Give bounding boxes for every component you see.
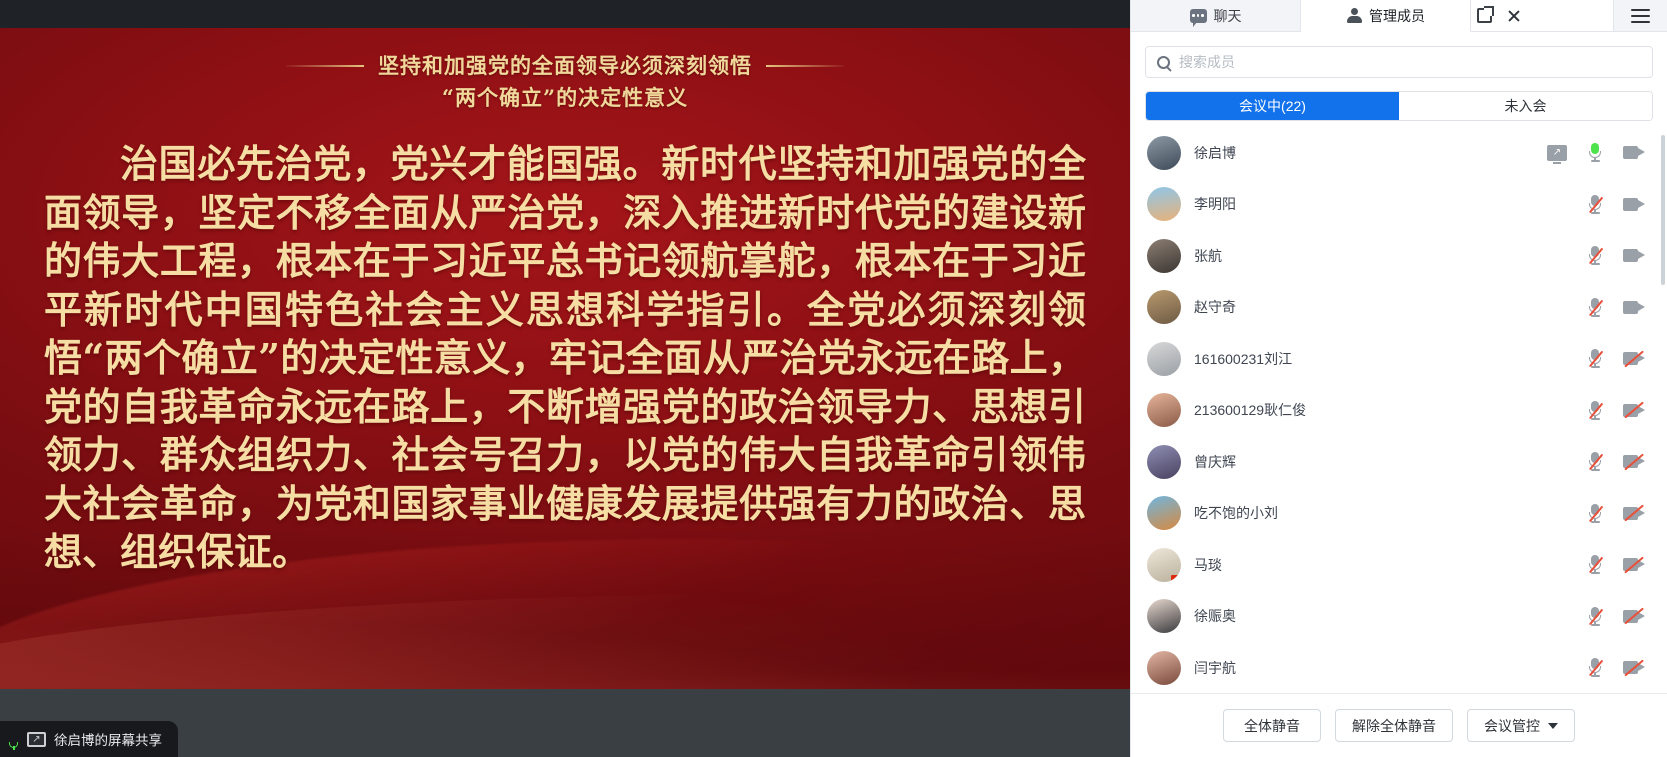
participant-name: 徐启博 [1194,143,1236,163]
participant-status-icons [1547,143,1645,162]
participant-name: 李明阳 [1194,194,1236,214]
slide-title-line-1: 坚持和加强党的全面领导必须深刻领悟 [378,50,752,82]
avatar [1147,290,1181,324]
camera-off-icon[interactable] [1623,454,1645,469]
participant-row[interactable]: 赵守奇 [1131,282,1667,334]
participant-status-icons [1588,607,1645,626]
chevron-down-icon [1548,723,1558,729]
popout-icon[interactable] [1477,8,1492,23]
slide-title-line-2: “两个确立”的决定性意义 [0,82,1130,114]
camera-on-icon[interactable] [1623,197,1645,212]
camera-off-icon[interactable] [1623,660,1645,675]
mute-all-label: 全体静音 [1244,716,1300,736]
presentation-slide: 坚持和加强党的全面领导必须深刻领悟 “两个确立”的决定性意义 治国必先治党，党兴… [0,28,1130,689]
avatar [1147,393,1181,427]
chat-bubble-icon [1190,9,1207,23]
microphone-active-icon [8,731,19,748]
panel-tab-bar: 聊天 管理成员 [1131,0,1667,32]
screen-share-icon[interactable] [1547,145,1567,161]
search-icon [1157,56,1170,69]
participant-row[interactable]: 马琰 [1131,539,1667,591]
unmute-all-label: 解除全体静音 [1352,716,1436,736]
meeting-control-label: 会议管控 [1484,716,1540,736]
participant-name: 张航 [1194,246,1222,266]
slide-title: 坚持和加强党的全面领导必须深刻领悟 “两个确立”的决定性意义 [0,50,1130,114]
title-rule-right [766,65,844,67]
meeting-control-button[interactable]: 会议管控 [1467,709,1575,742]
participant-name: 曾庆辉 [1194,452,1236,472]
microphone-muted-icon[interactable] [1588,555,1602,574]
camera-off-icon[interactable] [1623,557,1645,572]
filter-in-meeting[interactable]: 会议中(22) [1146,92,1399,120]
microphone-muted-icon[interactable] [1588,658,1602,677]
shared-screen-stage: 坚持和加强党的全面领导必须深刻领悟 “两个确立”的决定性意义 治国必先治党，党兴… [0,0,1130,757]
avatar [1147,239,1181,273]
participant-name: 马琰 [1194,555,1222,575]
tab-chat[interactable]: 聊天 [1131,0,1301,31]
panel-window-controls [1471,0,1613,31]
participant-name: 赵守奇 [1194,297,1236,317]
camera-on-icon[interactable] [1623,145,1645,160]
microphone-active-icon[interactable] [1588,143,1602,162]
microphone-muted-icon[interactable] [1588,195,1602,214]
participant-name: 闫宇航 [1194,658,1236,678]
camera-off-icon[interactable] [1623,609,1645,624]
person-icon [1346,8,1362,23]
avatar [1147,187,1181,221]
search-section [1131,32,1667,78]
camera-off-icon[interactable] [1623,506,1645,521]
avatar [1147,599,1181,633]
participant-name: 161600231刘江 [1194,349,1292,369]
participant-status-icons [1588,349,1645,368]
stage-taskbar: 徐启博的屏幕共享 [0,689,1130,757]
microphone-muted-icon[interactable] [1588,452,1602,471]
participant-status-icons [1588,401,1645,420]
screen-share-status: 徐启博的屏幕共享 [0,721,178,757]
participant-row[interactable]: 吃不饱的小刘 [1131,488,1667,540]
tab-manage-members-label: 管理成员 [1369,6,1425,26]
participant-status-icons [1588,555,1645,574]
participant-status-icons [1588,298,1645,317]
participant-filter-tabs: 会议中(22) 未入会 [1145,91,1653,121]
participant-status-icons [1588,504,1645,523]
participant-status-icons [1588,246,1645,265]
microphone-muted-icon[interactable] [1588,298,1602,317]
microphone-muted-icon[interactable] [1588,349,1602,368]
participant-row[interactable]: 李明阳 [1131,179,1667,231]
slide-body-text: 治国必先治党，党兴才能国强。新时代坚持和加强党的全面领导，坚定不移全面从严治党，… [44,140,1086,577]
screen-share-status-label: 徐启博的屏幕共享 [54,729,162,749]
camera-on-icon[interactable] [1623,300,1645,315]
participant-row[interactable]: 徐启博 [1131,127,1667,179]
camera-on-icon[interactable] [1623,248,1645,263]
participant-row[interactable]: 徐赈奥 [1131,591,1667,643]
microphone-muted-icon[interactable] [1588,607,1602,626]
meeting-window: 坚持和加强党的全面领导必须深刻领悟 “两个确立”的决定性意义 治国必先治党，党兴… [0,0,1667,757]
search-input[interactable] [1179,54,1641,70]
participant-row[interactable]: 213600129耿仁俊 [1131,385,1667,437]
avatar [1147,136,1181,170]
participant-row[interactable]: 161600231刘江 [1131,333,1667,385]
microphone-muted-icon[interactable] [1588,504,1602,523]
hamburger-menu-button[interactable] [1613,0,1667,31]
microphone-muted-icon[interactable] [1588,401,1602,420]
avatar [1147,342,1181,376]
participant-name: 吃不饱的小刘 [1194,503,1278,523]
panel-footer: 全体静音 解除全体静音 会议管控 [1131,693,1667,757]
participant-row[interactable]: 闫宇航 [1131,642,1667,693]
participant-row[interactable]: 曾庆辉 [1131,436,1667,488]
participant-name: 213600129耿仁俊 [1194,400,1306,420]
participant-status-icons [1588,195,1645,214]
participant-list[interactable]: 徐启博李明阳张航赵守奇161600231刘江213600129耿仁俊曾庆辉吃不饱… [1131,127,1667,693]
microphone-muted-icon[interactable] [1588,246,1602,265]
participant-status-icons [1588,658,1645,677]
camera-off-icon[interactable] [1623,351,1645,366]
avatar [1147,548,1181,582]
tab-manage-members[interactable]: 管理成员 [1301,0,1471,32]
camera-off-icon[interactable] [1623,403,1645,418]
title-rule-left [286,65,364,67]
avatar [1147,651,1181,685]
unmute-all-button[interactable]: 解除全体静音 [1335,709,1453,742]
avatar [1147,496,1181,530]
screen-share-icon [27,732,46,747]
participants-panel: 聊天 管理成员 会议中(22) 未入会 [1130,0,1667,757]
close-icon[interactable] [1506,8,1522,24]
participant-row[interactable]: 张航 [1131,230,1667,282]
search-box[interactable] [1145,46,1653,78]
avatar-flag-badge [1171,575,1181,582]
participant-status-icons [1588,452,1645,471]
avatar [1147,445,1181,479]
hamburger-menu-icon [1631,9,1650,23]
filter-not-joined[interactable]: 未入会 [1399,92,1652,120]
participant-list-scrollbar[interactable] [1661,135,1665,285]
mute-all-button[interactable]: 全体静音 [1223,709,1321,742]
tab-chat-label: 聊天 [1214,6,1242,26]
participant-name: 徐赈奥 [1194,606,1236,626]
